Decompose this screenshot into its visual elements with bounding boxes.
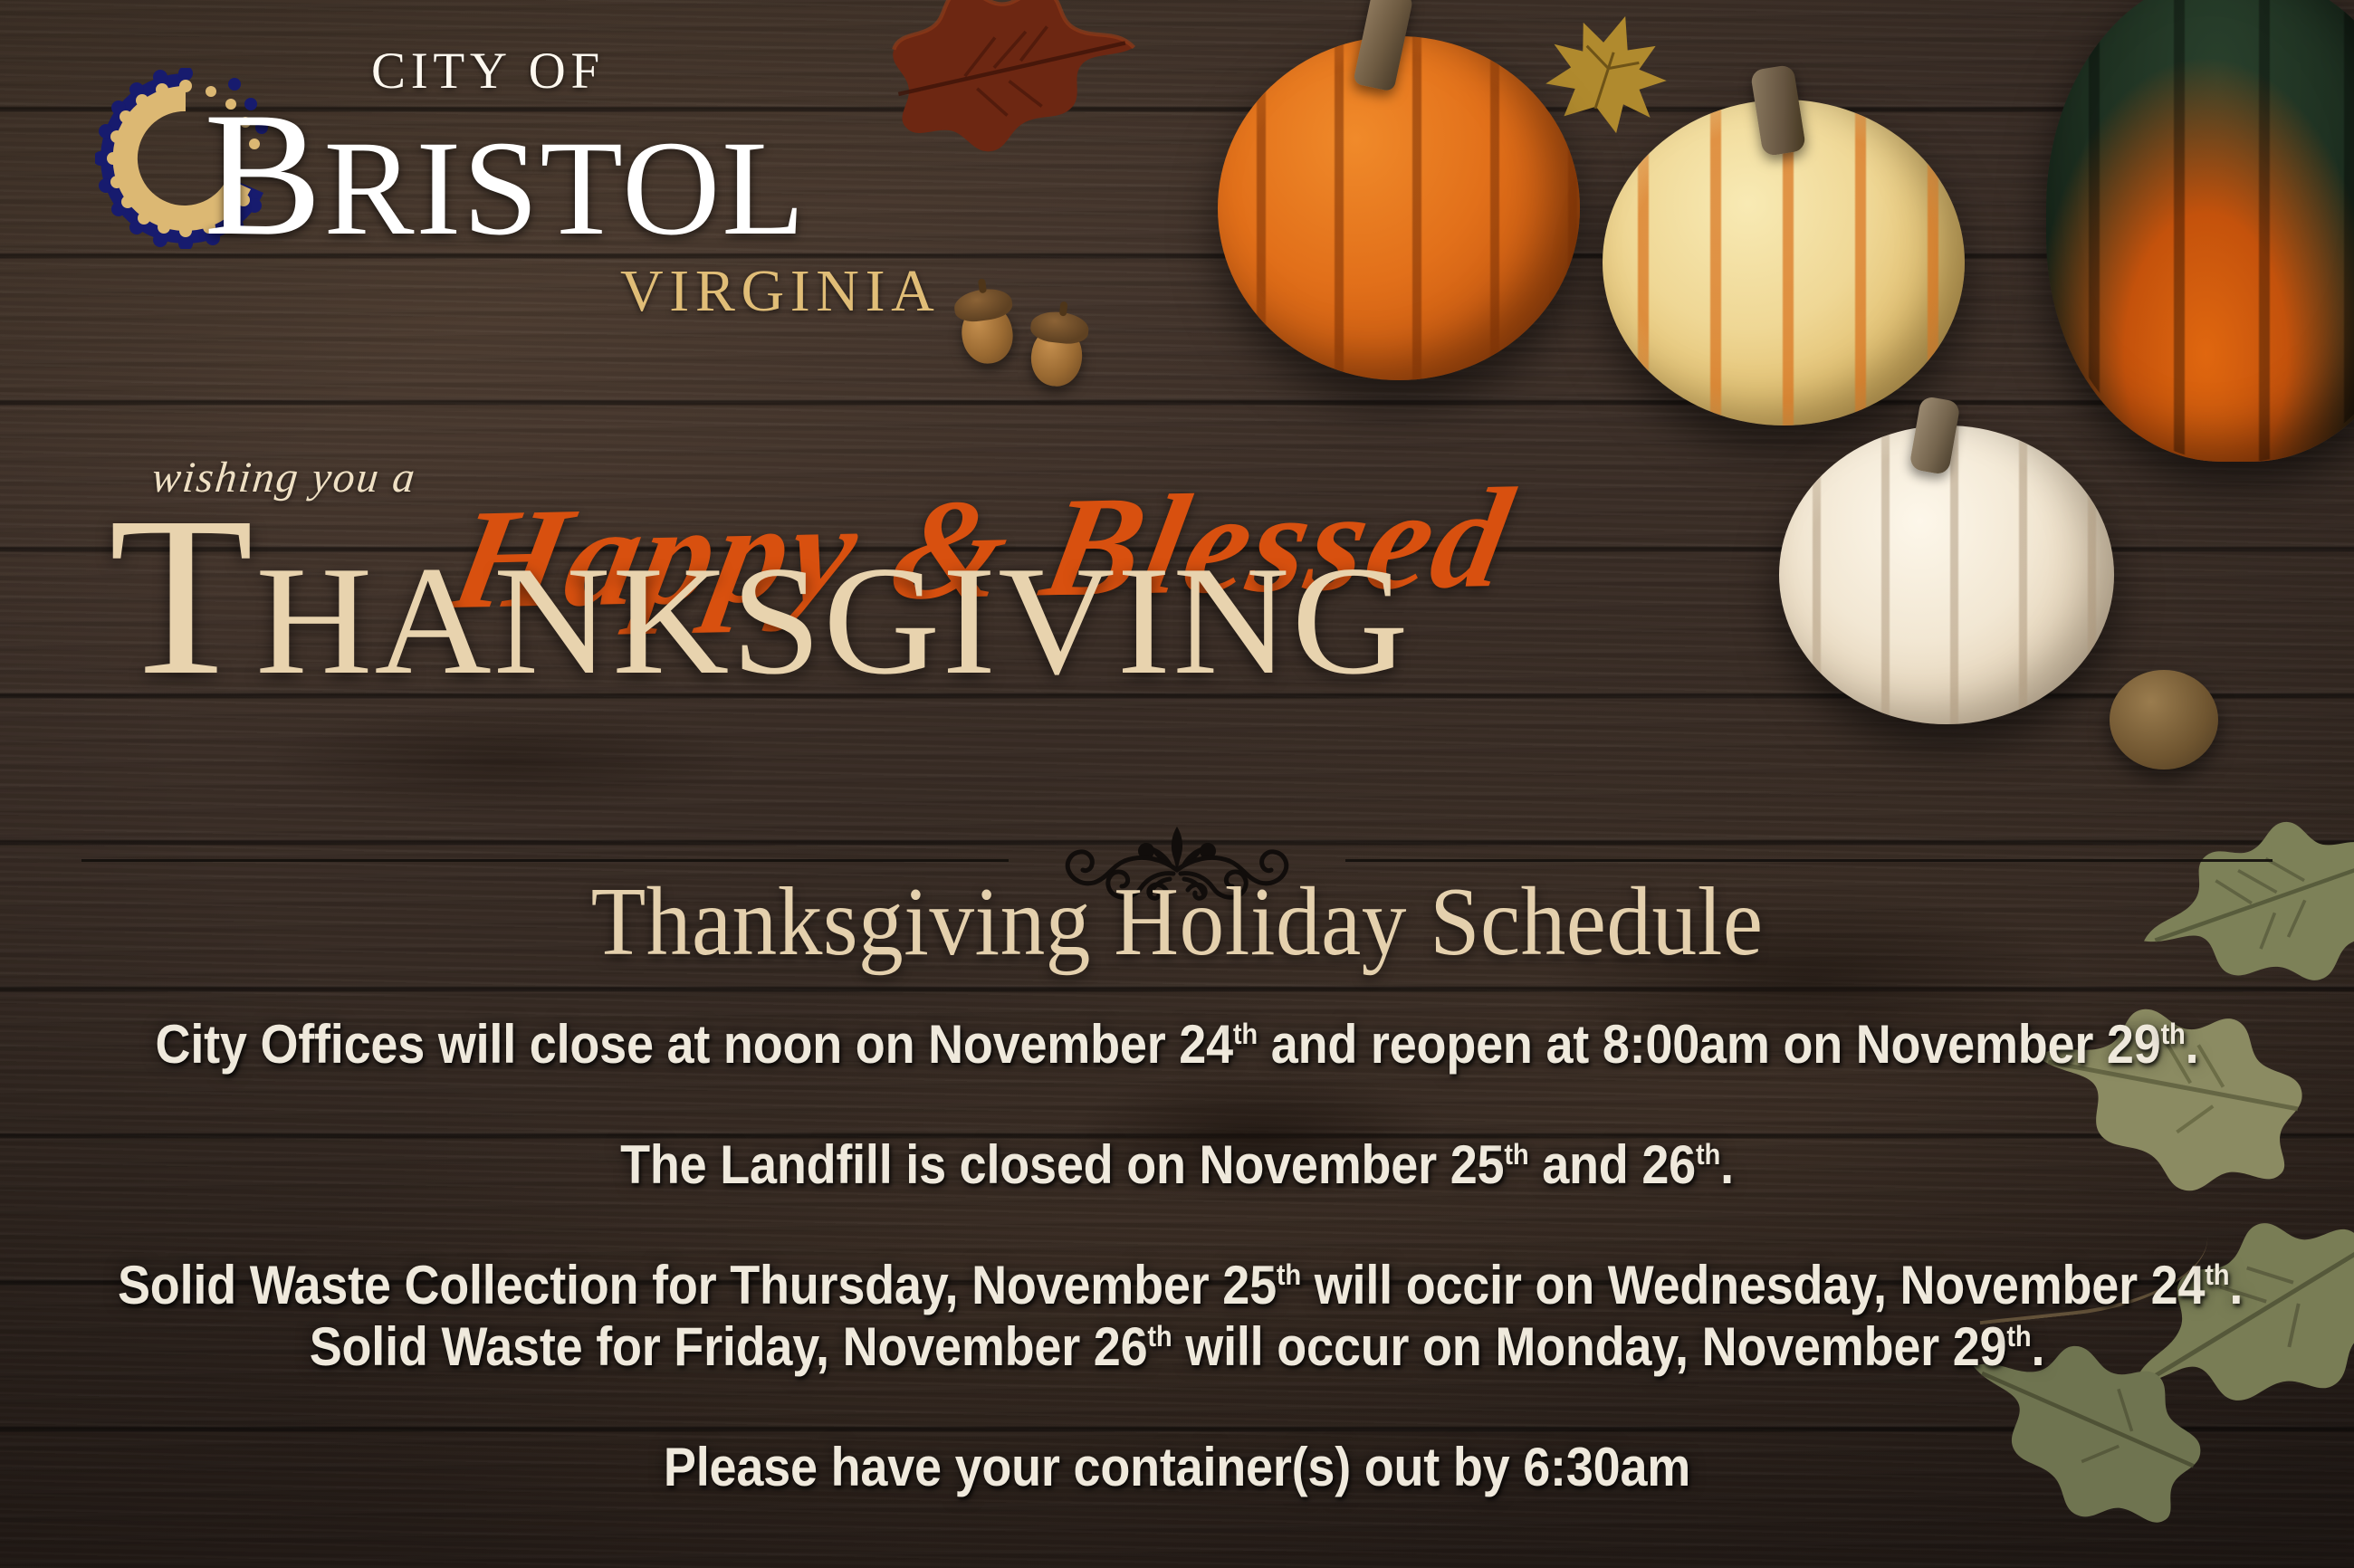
ordinal-suffix: th: [1504, 1138, 1528, 1171]
ordinal-suffix: th: [1233, 1018, 1258, 1050]
schedule-line-solid-waste-friday: Solid Waste for Friday, November 26th wi…: [118, 1316, 2236, 1377]
logo-virginia: VIRGINIA: [620, 262, 892, 321]
ordinal-suffix: th: [1696, 1138, 1720, 1171]
ordinal-suffix: th: [2006, 1320, 2031, 1353]
schedule-line-solid-waste-thursday: Solid Waste Collection for Thursday, Nov…: [118, 1255, 2236, 1315]
ordinal-suffix: th: [1277, 1258, 1301, 1291]
thanksgiving-initial: T: [109, 469, 255, 722]
logo-bristol-initial: B: [204, 76, 324, 272]
schedule-title: Thanksgiving Holiday Schedule: [94, 874, 2260, 971]
ordinal-suffix: th: [2205, 1258, 2229, 1291]
thanksgiving-headline: THANKSGIVING: [109, 543, 1411, 699]
schedule-body: City Offices will close at noon on Novem…: [118, 1014, 2236, 1497]
spacer: [118, 1195, 2236, 1255]
ordinal-suffix: th: [2161, 1018, 2186, 1050]
divider-rule-left: [81, 859, 1009, 862]
schedule-line-city-offices: City Offices will close at noon on Novem…: [118, 1014, 2236, 1075]
schedule-line-container-reminder: Please have your container(s) out by 6:3…: [118, 1437, 2236, 1497]
spacer: [118, 1377, 2236, 1437]
spacer: [118, 1075, 2236, 1134]
schedule-line-landfill: The Landfill is closed on November 25th …: [118, 1134, 2236, 1195]
divider-rule-right: [1345, 859, 2273, 862]
logo-wordmark: CITY OF BRISTOL VIRGINIA: [204, 45, 892, 321]
logo-bristol-rest: RISTOL: [324, 113, 807, 263]
city-logo: CITY OF BRISTOL VIRGINIA: [95, 45, 892, 371]
thanksgiving-holiday-flyer: CITY OF BRISTOL VIRGINIA wishing you a H…: [0, 0, 2354, 1568]
greeting-block: wishing you a Happy & Blessed THANKSGIVI…: [0, 425, 1919, 806]
logo-bristol: BRISTOL: [204, 90, 892, 260]
ordinal-suffix: th: [1147, 1320, 1172, 1353]
thanksgiving-rest: HANKSGIVING: [255, 535, 1411, 707]
